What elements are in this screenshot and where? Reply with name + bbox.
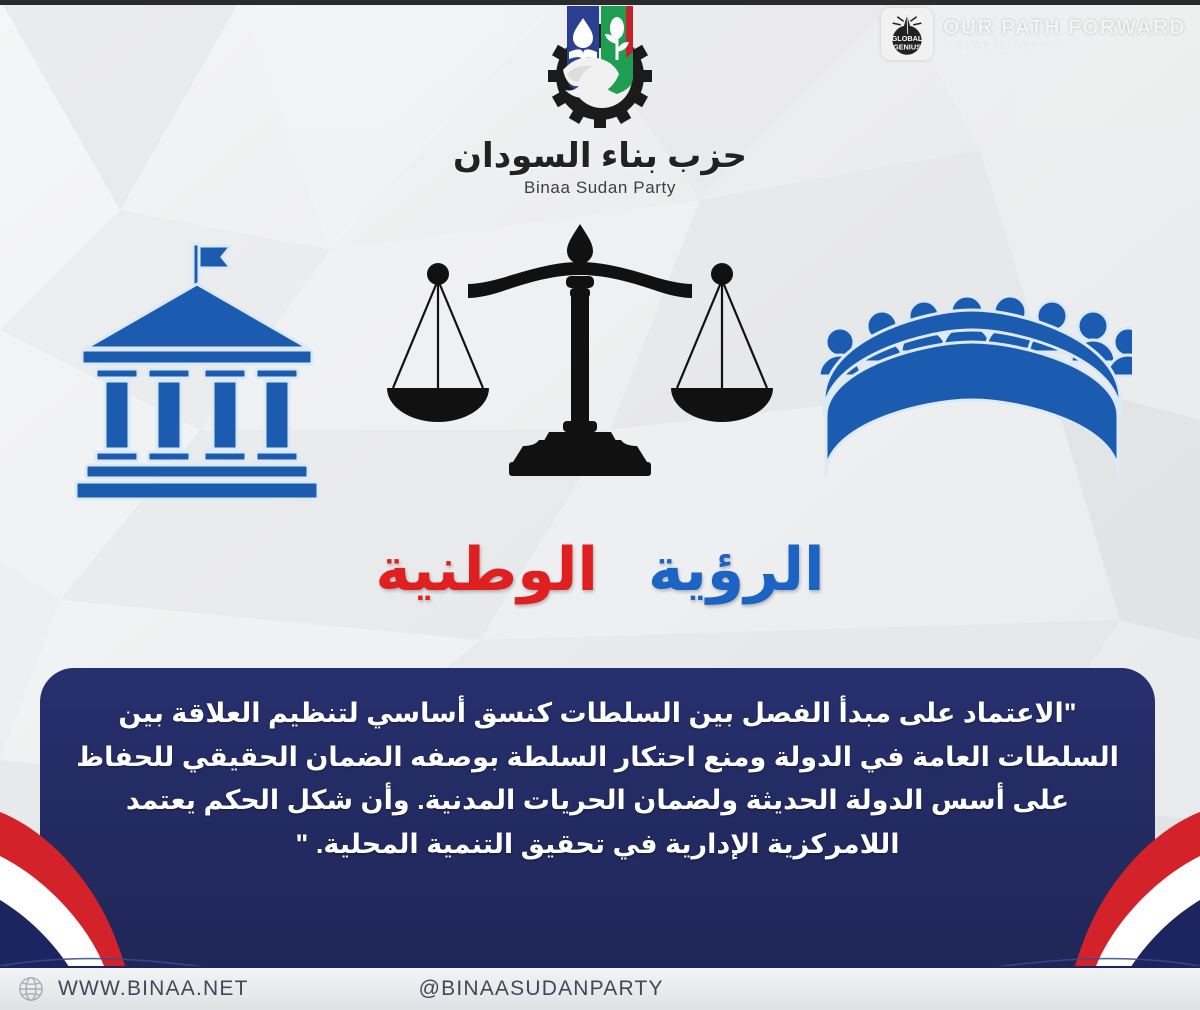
quote-line-2: السلطات العامة في الدولة ومنع احتكار الس… (76, 736, 1119, 780)
parliament-assembly-icon (812, 288, 1132, 488)
quote-line-3: على أسس الدولة الحديثة ولضمان الحريات ال… (76, 779, 1119, 823)
global-genius-rocket-icon: GLOBAL GENIUS (884, 11, 930, 57)
brand-name-arabic: حزب بناء السودان (453, 138, 747, 175)
watermark-our-path-forward: GLOBAL GENIUS OUR PATH FORWARD A GLOBAL … (881, 8, 1186, 60)
top-strip (0, 0, 1200, 5)
government-building-icon (72, 226, 322, 506)
global-genius-badge: GLOBAL GENIUS (881, 8, 933, 60)
page-title: الرؤية الوطنية (0, 536, 1200, 603)
poster-root: GLOBAL GENIUS OUR PATH FORWARD A GLOBAL … (0, 0, 1200, 1010)
brand-name-english: Binaa Sudan Party (524, 178, 676, 198)
quote-line-4: اللامركزية الإدارية في تحقيق التنمية الم… (76, 823, 1119, 867)
quote-panel: "الاعتماد على مبدأ الفصل بين السلطات كنس… (40, 668, 1155, 968)
watermark-title: OUR PATH FORWARD (943, 17, 1186, 38)
footer-bar: WWW.BINAA.NET @BINAASUDANPARTY (0, 966, 1200, 1010)
page-title-word-red: الوطنية (375, 536, 598, 603)
globe-icon (18, 976, 44, 1002)
svg-text:GENIUS: GENIUS (893, 42, 921, 51)
pillars-icon-row (0, 218, 1200, 508)
quote-line-1: "الاعتماد على مبدأ الفصل بين السلطات كنس… (76, 692, 1119, 736)
binaa-party-emblem-icon (505, 4, 695, 134)
footer-website[interactable]: WWW.BINAA.NET (58, 977, 249, 1001)
scales-of-justice-icon (385, 218, 775, 508)
page-title-word-blue: الرؤية (648, 536, 825, 603)
footer-social-handle[interactable]: @BINAASUDANPARTY (419, 977, 664, 1001)
quote-text: "الاعتماد على مبدأ الفصل بين السلطات كنس… (76, 692, 1119, 867)
watermark-subtitle: A GLOBAL GENIUS (943, 42, 1186, 52)
svg-text:GLOBAL: GLOBAL (892, 34, 923, 43)
